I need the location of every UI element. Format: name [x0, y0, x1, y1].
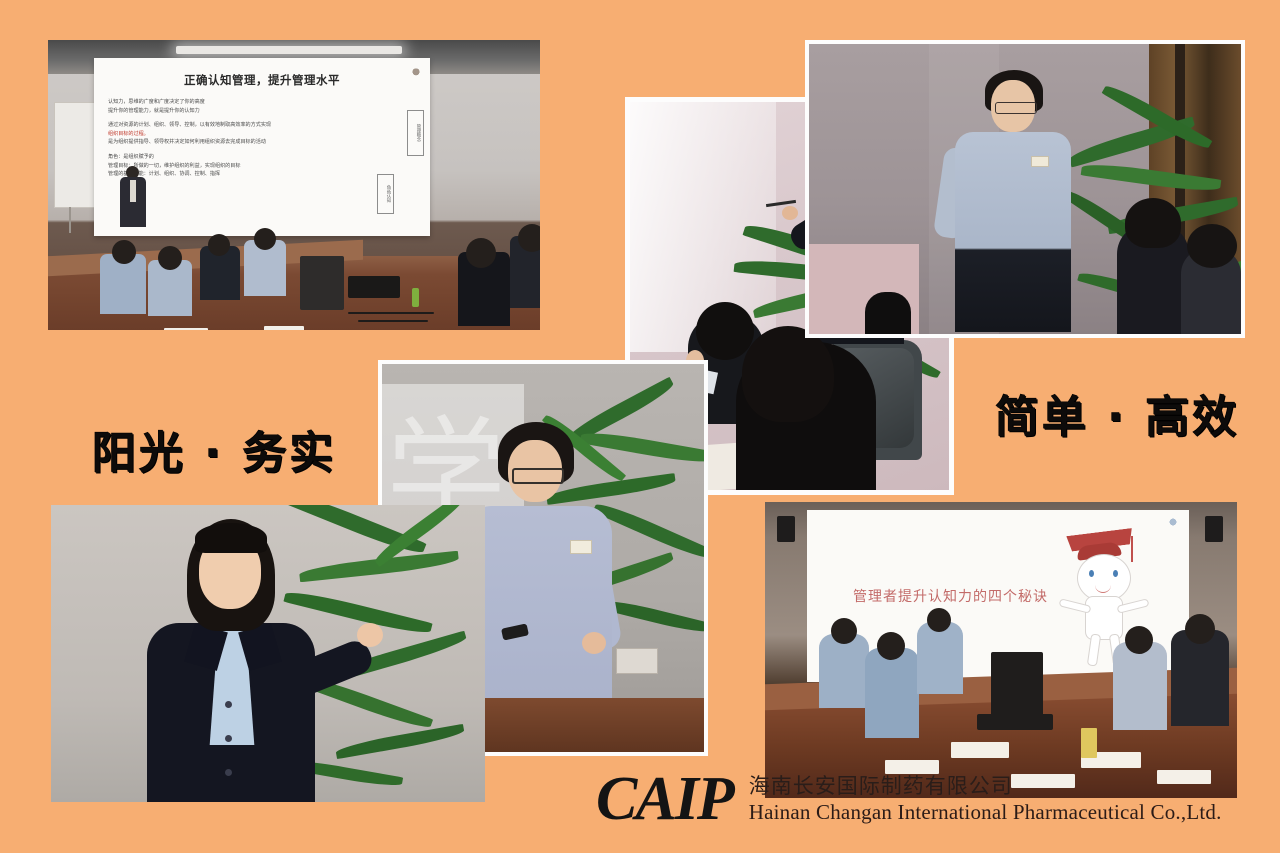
- name-badge: [1031, 156, 1049, 167]
- attendee-head: [518, 224, 540, 252]
- slide-stamp-b: 角色认知: [377, 174, 394, 214]
- brand-names: 海南长安国际制药有限公司 Hainan Changan Internationa…: [749, 773, 1222, 825]
- slide-bullet: 组织目标的过程。: [108, 130, 414, 139]
- slide-title: 正确认知管理，提升管理水平: [94, 72, 430, 88]
- seated-listener: [865, 292, 911, 334]
- document-sheet: [951, 742, 1009, 758]
- photo-meeting-slide: 管理者提升认知力的四个秘诀: [765, 502, 1237, 798]
- attendee-head: [927, 608, 951, 632]
- cap-tassel: [1131, 536, 1133, 562]
- attendee-head: [1125, 626, 1153, 654]
- attendee-head: [1185, 614, 1215, 644]
- water-bottle: [412, 288, 419, 307]
- ceiling-speaker: [1205, 516, 1223, 542]
- slide-logo-icon: [1167, 516, 1179, 528]
- document-sheet: [164, 328, 208, 330]
- attendee: [865, 648, 919, 738]
- speaker-fringe: [195, 523, 267, 553]
- document-sheet: [264, 326, 304, 330]
- plant-leaf: [335, 724, 465, 759]
- presenter-hand: [782, 206, 798, 220]
- attendee: [1113, 642, 1167, 730]
- attendee-head: [831, 618, 857, 644]
- slide-title: 管理者提升认知力的四个秘诀: [853, 586, 1048, 606]
- slide-bullet: 认知力，思维的广度和广度决定了你的高度: [108, 98, 414, 107]
- attendee: [917, 622, 963, 694]
- company-name-en: Hainan Changan International Pharmaceuti…: [749, 799, 1222, 825]
- attendee: [819, 634, 869, 708]
- attendee-head: [208, 234, 230, 256]
- presenter-body: [955, 132, 1071, 332]
- plant-leaf: [1081, 160, 1222, 194]
- av-equipment: [991, 652, 1043, 716]
- glasses-icon: [995, 102, 1037, 114]
- cable: [348, 312, 434, 314]
- jacket-button: [225, 701, 232, 708]
- caip-logo: CAIP: [596, 770, 733, 828]
- slide-bullet: 管理目标：所做的一切，维护组织的利益，实现组织的目标: [108, 162, 414, 171]
- listener-head: [742, 326, 834, 422]
- wall-socket: [616, 648, 658, 674]
- laptop: [348, 276, 400, 298]
- slide-stamp-a: 管理概念: [407, 110, 424, 156]
- presenter-hand-right: [582, 632, 606, 654]
- photo-young-man: [805, 40, 1245, 338]
- water-bottle: [1081, 728, 1097, 758]
- jacket-button: [225, 769, 232, 776]
- attendee-head: [466, 238, 496, 268]
- ceiling-speaker: [777, 516, 795, 542]
- attendee-head: [158, 246, 182, 270]
- presenter-body: [120, 177, 146, 227]
- listener-head: [696, 302, 754, 360]
- mascot-eye: [1113, 570, 1118, 577]
- photo-training-room: 正确认知管理，提升管理水平 认知力，思维的广度和广度决定了你的高度 提升你的管理…: [48, 40, 540, 330]
- listener-head: [1187, 224, 1237, 268]
- slide-bullet: 管理的基本职能：计划、组织、协调、控制、指挥: [108, 170, 414, 179]
- name-badge: [570, 540, 592, 554]
- speaker-hand: [357, 623, 383, 647]
- presenter-body: [464, 506, 612, 716]
- jacket-button: [225, 735, 232, 742]
- mascot-head: [1077, 554, 1131, 602]
- brand-lockup: CAIP 海南长安国际制药有限公司 Hainan Changan Interna…: [596, 770, 1222, 828]
- attendee: [1171, 630, 1229, 726]
- attendee-head: [877, 632, 905, 660]
- mixer: [977, 714, 1053, 730]
- listener-head: [1125, 198, 1181, 248]
- mascot-eye: [1089, 570, 1094, 577]
- slide-bullet: 通过对资源的计划、组织、领导、控制，以有效地制取高效率的方式实现: [108, 121, 414, 130]
- standing-presenter: [120, 166, 146, 228]
- company-name-cn: 海南长安国际制药有限公司: [749, 773, 1222, 799]
- glasses-icon: [512, 468, 564, 484]
- photo-young-woman: [51, 505, 485, 802]
- slogan-right: 简单 · 高效: [995, 381, 1239, 445]
- collage-canvas: 正确认知管理，提升管理水平 认知力，思维的广度和广度决定了你的高度 提升你的管理…: [0, 0, 1280, 853]
- slide-bullet: 是为组织提供指导、领导权并决定如何利用组织资源去完成目标的活动: [108, 138, 414, 147]
- attendee-head: [112, 240, 136, 264]
- slide-bullets: 认知力，思维的广度和广度决定了你的高度 提升你的管理能力，就是提升你的认知力 通…: [108, 98, 414, 179]
- cable: [358, 320, 428, 322]
- av-equipment: [300, 256, 344, 310]
- slide-bullet: 提升你的管理能力，就是提升你的认知力: [108, 107, 414, 116]
- attendee-head: [254, 228, 276, 250]
- slide-bullet: 角色：是组织赋予的: [108, 153, 414, 162]
- slogan-left: 阳光 · 务实: [92, 417, 336, 481]
